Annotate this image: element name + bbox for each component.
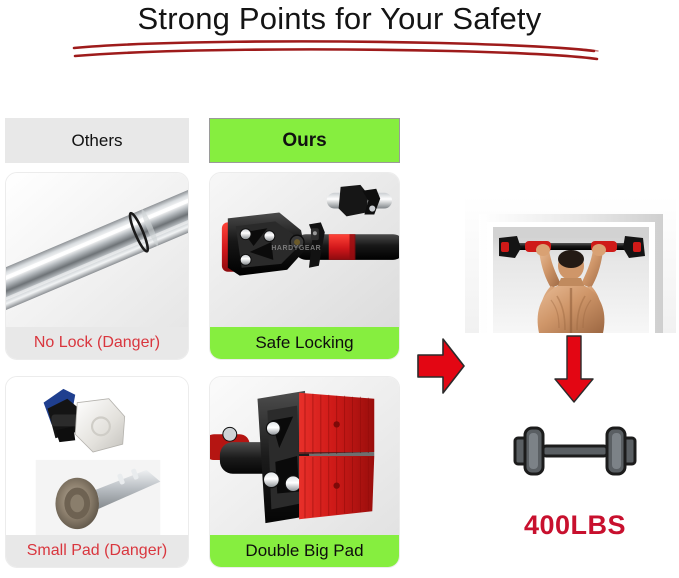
- column-header-others-label: Others: [71, 131, 122, 151]
- panel-ours-locking: HARDYGEAR Safe Locking: [209, 172, 400, 360]
- column-header-others: Others: [5, 118, 189, 163]
- svg-text:HARDYGEAR: HARDYGEAR: [271, 245, 321, 252]
- page-title: Strong Points for Your Safety: [0, 0, 679, 39]
- panel-ours-pad: Double Big Pad: [209, 376, 400, 568]
- panel-others-pad: Small Pad (Danger): [5, 376, 189, 568]
- column-header-ours-label: Ours: [282, 130, 326, 152]
- caption-others-locking: No Lock (Danger): [6, 327, 188, 359]
- title-underline-swoosh: [70, 36, 600, 66]
- panel-others-locking: No Lock (Danger): [5, 172, 189, 360]
- arrow-down-icon: [552, 333, 596, 405]
- caption-ours-pad: Double Big Pad: [210, 535, 399, 567]
- image-doorway-pullup: [465, 196, 676, 333]
- image-chrome-bar: [6, 173, 188, 327]
- image-small-pad: [6, 377, 188, 535]
- title-area: Strong Points for Your Safety: [0, 0, 679, 78]
- arrow-right-icon: [415, 334, 467, 398]
- column-header-ours: Ours: [209, 118, 400, 163]
- dumbbell-icon: [505, 420, 645, 482]
- image-locking-bracket: HARDYGEAR: [210, 173, 399, 327]
- image-double-big-pad: [210, 377, 399, 535]
- caption-others-pad: Small Pad (Danger): [6, 535, 188, 567]
- caption-ours-locking: Safe Locking: [210, 327, 399, 359]
- weight-capacity-label: 400LBS: [470, 510, 679, 541]
